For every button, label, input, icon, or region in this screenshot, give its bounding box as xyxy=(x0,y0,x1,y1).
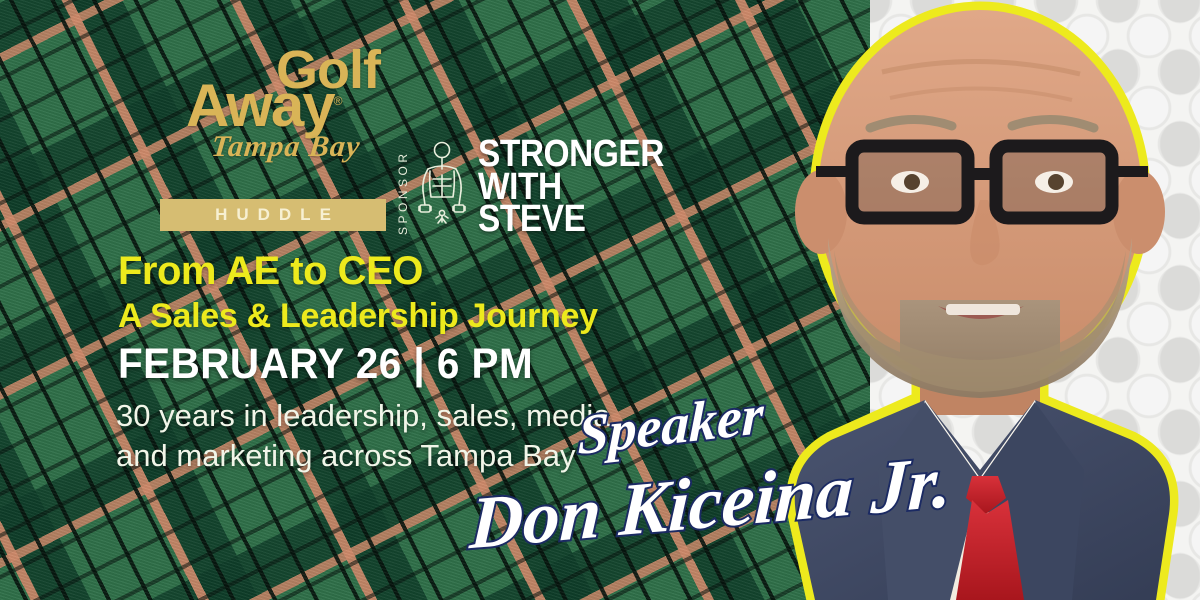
huddle-badge-label: HUDDLE xyxy=(206,205,340,225)
event-description: 30 years in leadership, sales, media, an… xyxy=(116,396,636,475)
sponsor-name: STRONGER WITH STEVE xyxy=(478,138,673,236)
sponsor-name-line2: WITH STEVE xyxy=(478,171,673,236)
muscular-figure-dumbbells-icon xyxy=(416,139,468,236)
logo-word-away: Away® xyxy=(186,80,386,133)
huddle-badge: HUDDLE xyxy=(160,199,386,231)
headline-line1: From AE to CEO xyxy=(118,249,423,294)
logo-away-text: Away xyxy=(186,72,334,139)
sponsor-block: SPONSOR ST xyxy=(396,138,700,236)
logo-region-tampa-bay: Tampa Bay xyxy=(184,130,388,164)
golf-away-logo[interactable]: Golf Away® Tampa Bay xyxy=(186,46,386,164)
sponsor-label: SPONSOR xyxy=(396,139,410,235)
event-promo-poster: Golf Away® Tampa Bay HUDDLE SPONSOR xyxy=(0,0,1200,600)
headline-line2: A Sales & Leadership Journey xyxy=(118,297,598,336)
event-date-time: FEBRUARY 26 | 6 PM xyxy=(118,340,533,389)
registered-trademark-icon: ® xyxy=(334,94,343,108)
